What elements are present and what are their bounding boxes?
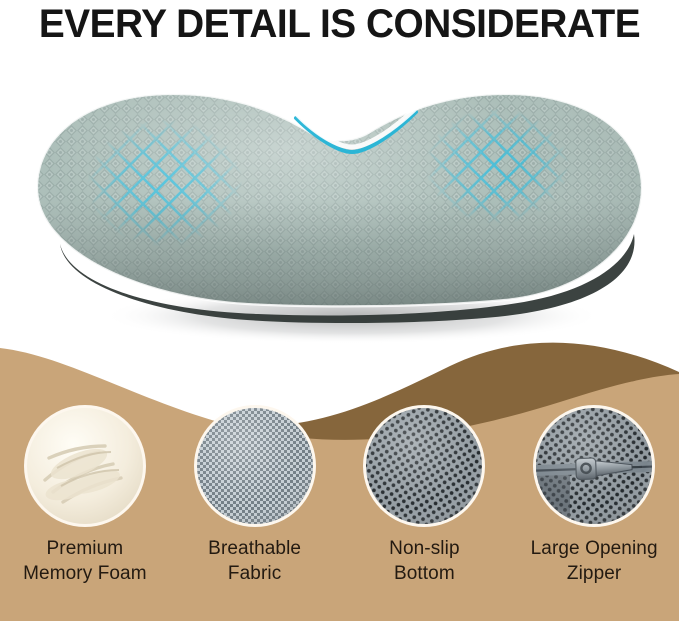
non-slip-dotted-bottom-icon (366, 408, 482, 524)
feature-label: Large Opening Zipper (531, 536, 658, 586)
feature-label-line-1: Non-slip (389, 536, 460, 561)
product-infographic: EVERY DETAIL IS CONSIDERATE (0, 0, 679, 621)
feature-label-line-2: Fabric (208, 561, 301, 586)
memory-foam-handprint-icon (27, 408, 143, 524)
feature-image-ring (24, 405, 146, 527)
woven-mesh-fabric-icon (197, 408, 313, 524)
hero-product-image (0, 48, 679, 348)
feature-label: Breathable Fabric (208, 536, 301, 586)
feature-item-non-slip-bottom[interactable]: Non-slip Bottom (340, 405, 510, 586)
feature-item-breathable-fabric[interactable]: Breathable Fabric (170, 405, 340, 586)
feature-panel: Premium Memory Foam (0, 330, 679, 621)
feature-label-line-2: Zipper (531, 561, 658, 586)
feature-label-line-2: Memory Foam (23, 561, 147, 586)
feature-label-line-1: Large Opening (531, 536, 658, 561)
feature-label-line-1: Breathable (208, 536, 301, 561)
feature-image-ring (533, 405, 655, 527)
page-title: EVERY DETAIL IS CONSIDERATE (10, 2, 669, 46)
feature-label-line-1: Premium (23, 536, 147, 561)
feature-image-ring (363, 405, 485, 527)
feature-label: Non-slip Bottom (389, 536, 460, 586)
feature-label: Premium Memory Foam (23, 536, 147, 586)
feature-image-ring (194, 405, 316, 527)
feature-item-large-opening-zipper[interactable]: Large Opening Zipper (509, 405, 679, 586)
feature-list: Premium Memory Foam (0, 405, 679, 621)
feature-label-line-2: Bottom (389, 561, 460, 586)
feature-item-premium-memory-foam[interactable]: Premium Memory Foam (0, 405, 170, 586)
zipper-opening-icon (536, 408, 652, 524)
